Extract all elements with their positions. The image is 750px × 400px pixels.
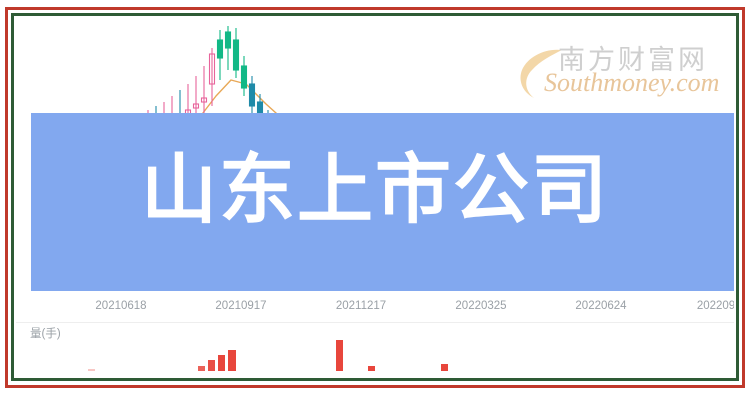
x-axis-tick-label: 20210618 (95, 300, 146, 312)
candle (218, 30, 223, 80)
x-axis-ticks: 2021061820210917202112172022032520220624… (16, 300, 734, 322)
volume-axis-label: 量(手) (30, 325, 61, 341)
chart-canvas: 山东上市公司 202106182021091720211217202203252… (16, 18, 734, 376)
price-panel: 山东上市公司 (16, 18, 734, 308)
volume-bar (368, 366, 375, 371)
volume-bar (88, 369, 95, 371)
volume-bar (441, 364, 448, 371)
headline-title: 山东上市公司 (16, 152, 734, 228)
x-axis-tick-label: 20220325 (455, 300, 506, 312)
candle (202, 66, 207, 114)
volume-bar (208, 360, 215, 371)
candle (194, 76, 199, 118)
x-axis-tick-label: 20211217 (336, 300, 386, 312)
x-axis-tick-label: 20210917 (215, 300, 266, 312)
x-axis-tick-label: 202209 (697, 300, 734, 312)
candle (242, 56, 247, 96)
screenshot-root: 山东上市公司 202106182021091720211217202203252… (0, 0, 750, 400)
volume-bar (218, 355, 225, 371)
candle (226, 26, 231, 70)
candle (234, 28, 239, 78)
volume-panel: 量(手) (16, 322, 734, 376)
candle (210, 48, 215, 106)
candle (250, 76, 255, 114)
volume-bar (228, 350, 236, 371)
volume-bar (336, 340, 343, 371)
volume-bar (198, 366, 205, 371)
x-axis-tick-label: 20220624 (575, 300, 626, 312)
